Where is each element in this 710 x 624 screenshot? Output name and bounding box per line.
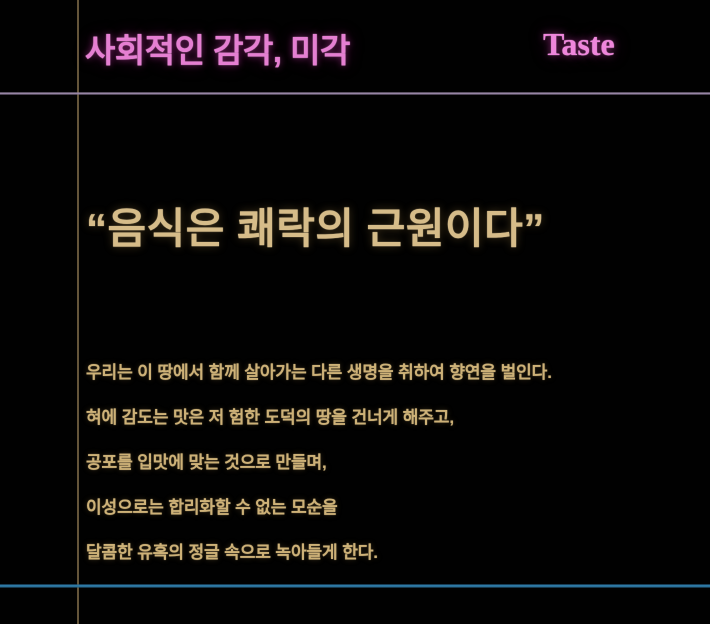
header-title-english: Taste xyxy=(543,26,615,63)
header-title-korean: 사회적인 감각, 미각 xyxy=(85,24,350,72)
slide-canvas: 사회적인 감각, 미각 Taste “음식은 쾌락의 근원이다” 우리는 이 땅… xyxy=(0,0,710,624)
verse-line: 이성으로는 합리화할 수 없는 모순을 xyxy=(86,485,686,530)
verse-block: 우리는 이 땅에서 함께 살아가는 다른 생명을 취하여 향연을 벌인다. 혀에… xyxy=(86,350,686,575)
pull-quote: “음식은 쾌락의 근원이다” xyxy=(86,195,545,256)
slide-body: “음식은 쾌락의 근원이다” 우리는 이 땅에서 함께 살아가는 다른 생명을 … xyxy=(0,92,710,584)
slide-header: 사회적인 감각, 미각 Taste xyxy=(0,0,710,92)
verse-line: 혀에 감도는 맛은 저 험한 도덕의 땅을 건너게 해주고, xyxy=(86,395,686,440)
slide-footer xyxy=(0,588,710,624)
verse-line: 공포를 입맛에 맞는 것으로 만들며, xyxy=(86,440,686,485)
verse-line: 달콤한 유혹의 정글 속으로 녹아들게 한다. xyxy=(86,530,686,575)
verse-line: 우리는 이 땅에서 함께 살아가는 다른 생명을 취하여 향연을 벌인다. xyxy=(86,350,686,395)
